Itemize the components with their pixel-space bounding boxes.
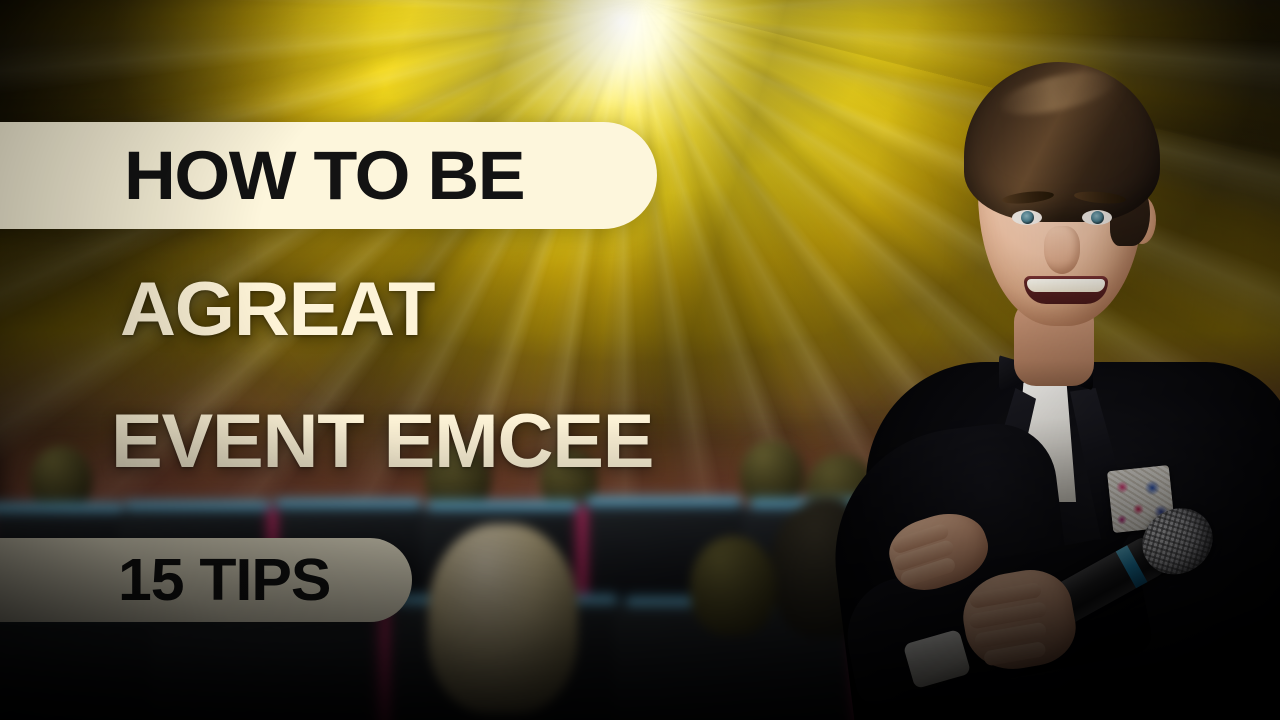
- teeth: [1027, 279, 1105, 292]
- hair: [964, 62, 1160, 222]
- tips-badge-label: 15 TIPS: [118, 551, 330, 610]
- audience-head: [740, 440, 804, 508]
- title-badge-label: HOW TO BE: [124, 141, 524, 210]
- eye-left: [1012, 210, 1042, 225]
- smiling-mouth: [1024, 276, 1108, 304]
- eye-right: [1082, 210, 1112, 225]
- audience-head: [30, 446, 92, 512]
- headline-line-2: EVENT EMCEE: [111, 404, 653, 480]
- nose: [1044, 226, 1080, 274]
- title-badge: HOW TO BE: [0, 122, 657, 229]
- audience-head: [690, 536, 776, 636]
- headline-line-1: AGREAT: [120, 272, 434, 348]
- theater-seat: [0, 610, 170, 720]
- emcee-portrait: [856, 0, 1280, 720]
- tips-badge: 15 TIPS: [0, 538, 412, 622]
- audience-head: [428, 524, 578, 714]
- thumbnail-canvas: HOW TO BE AGREAT EVENT EMCEE 15 TIPS: [0, 0, 1280, 720]
